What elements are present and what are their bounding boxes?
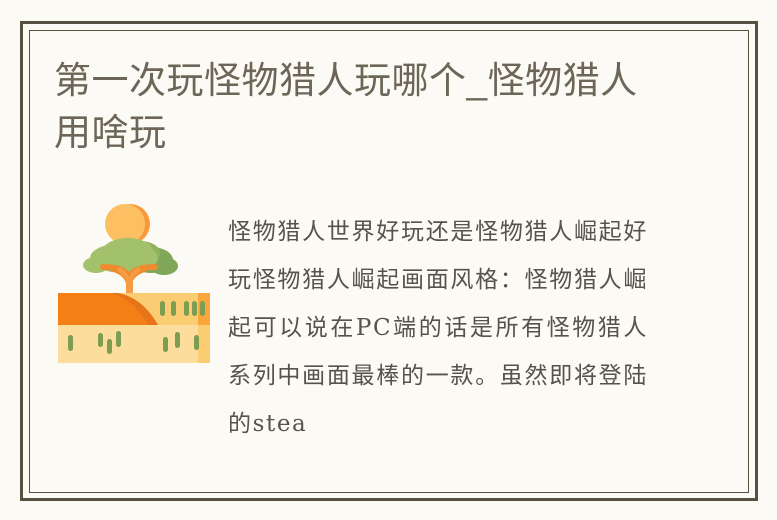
page-content: 第一次玩怪物猎人玩哪个_怪物猎人用啥玩 (30, 31, 748, 492)
ground-upper-band (58, 293, 210, 325)
savanna-scene-illustration (58, 201, 210, 363)
document-page: 第一次玩怪物猎人玩哪个_怪物猎人用啥玩 (0, 0, 777, 520)
page-title: 第一次玩怪物猎人玩哪个_怪物猎人用啥玩 (54, 55, 674, 159)
article-body-text: 怪物猎人世界好玩还是怪物猎人崛起好玩怪物猎人崛起画面风格：怪物猎人崛起可以说在P… (228, 208, 648, 448)
sun-icon (105, 204, 150, 244)
ground-lower-band (58, 325, 210, 363)
